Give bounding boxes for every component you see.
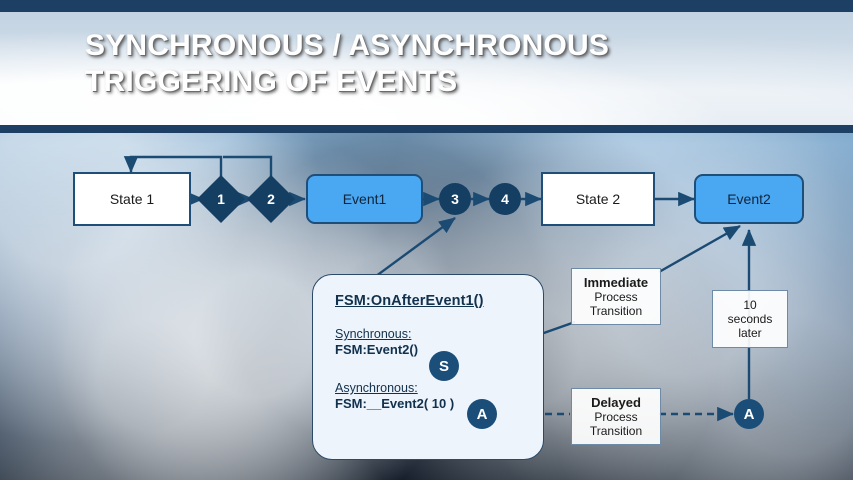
step-2-diamond[interactable]: 2 (247, 175, 295, 223)
delay-timer-box[interactable]: 10 seconds later (712, 290, 788, 348)
state-2-box[interactable]: State 2 (541, 172, 655, 226)
state-1-box[interactable]: State 1 (73, 172, 191, 226)
event-1-box[interactable]: Event1 (306, 174, 423, 224)
delayed-title: Delayed (591, 396, 641, 410)
sync-badge[interactable]: S (429, 351, 459, 381)
delayed-line-3: Transition (590, 424, 642, 438)
fsm-title: FSM:OnAfterEvent1() (335, 293, 543, 309)
step-4-circle[interactable]: 4 (489, 183, 521, 215)
immediate-title: Immediate (584, 276, 648, 290)
event-2-box[interactable]: Event2 (694, 174, 804, 224)
step-2-label: 2 (254, 182, 288, 216)
step-1-diamond[interactable]: 1 (197, 175, 245, 223)
async-badge[interactable]: A (467, 399, 497, 429)
fsm-callout-card[interactable]: FSM:OnAfterEvent1() Synchronous: FSM:Eve… (312, 274, 544, 460)
fsm-async-code: FSM:__Event2( 10 ) (335, 396, 543, 411)
fsm-async-label: Asynchronous: (335, 381, 543, 395)
immediate-transition-box[interactable]: Immediate Process Transition (571, 268, 661, 325)
slide-canvas: SYNCHRONOUS / ASYNCHRONOUS TRIGGERING OF… (0, 0, 853, 480)
state-2-label: State 2 (576, 191, 620, 207)
delayed-line-2: Process (594, 410, 637, 424)
delayed-arrival-badge[interactable]: A (734, 399, 764, 429)
event-1-label: Event1 (343, 191, 387, 207)
delay-line-3: later (738, 326, 761, 340)
delay-line-1: 10 (743, 298, 756, 312)
immediate-line-3: Transition (590, 304, 642, 318)
state-1-label: State 1 (110, 191, 154, 207)
delay-line-2: seconds (728, 312, 773, 326)
step-3-circle[interactable]: 3 (439, 183, 471, 215)
fsm-sync-label: Synchronous: (335, 327, 543, 341)
step-1-label: 1 (204, 182, 238, 216)
delayed-transition-box[interactable]: Delayed Process Transition (571, 388, 661, 445)
event-2-label: Event2 (727, 191, 771, 207)
immediate-line-2: Process (594, 290, 637, 304)
